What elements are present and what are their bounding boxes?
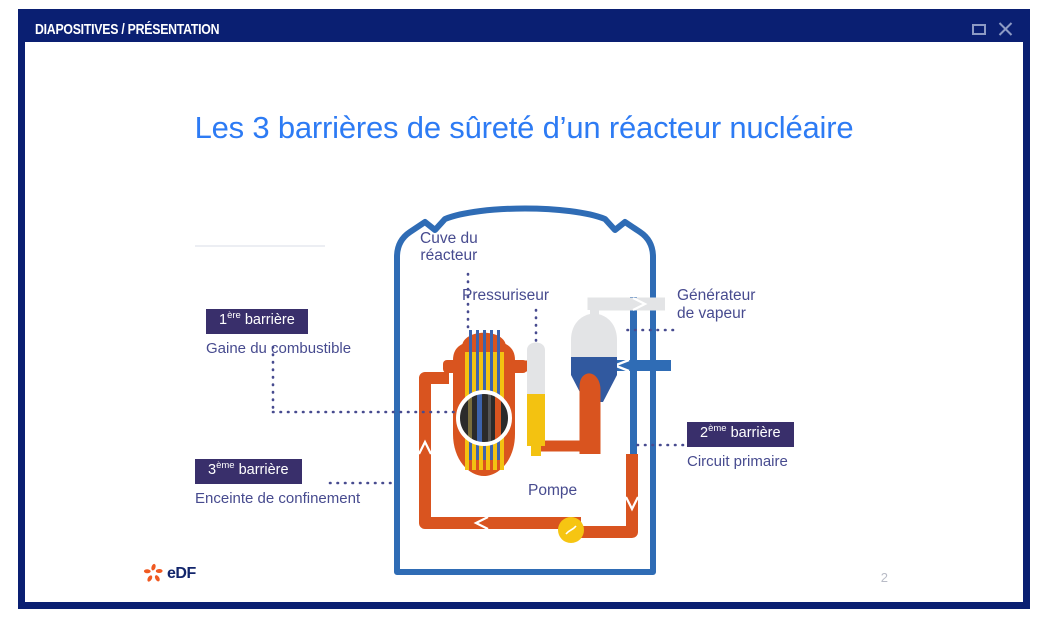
barrier-2-description: Circuit primaire [687, 453, 794, 470]
barrier-2-word: barrière [731, 425, 781, 441]
barrier-1-chip: 1ère barrière [206, 309, 308, 334]
label-reactor-vessel-line2: réacteur [420, 247, 478, 264]
steam-outlet-pipe [594, 304, 665, 310]
screen: DIAPOSITIVES / PRÉSENTATION Les 3 barriè… [0, 0, 1042, 631]
presentation-window: DIAPOSITIVES / PRÉSENTATION Les 3 barriè… [18, 9, 1030, 609]
window-titlebar: DIAPOSITIVES / PRÉSENTATION [25, 16, 1023, 42]
reactor-vessel-right-nozzle [511, 360, 527, 373]
barrier-1-word: barrière [245, 312, 295, 328]
window-title: DIAPOSITIVES / PRÉSENTATION [35, 21, 219, 38]
barrier-3-description: Enceinte de confinement [195, 490, 360, 507]
label-reactor-vessel-line1: Cuve du [420, 230, 478, 247]
barrier-2-chip: 2ème barrière [687, 422, 794, 447]
reactor-diagram-artwork [25, 42, 1023, 602]
restore-icon [972, 24, 986, 35]
close-icon [997, 21, 1013, 37]
slide-page-number: 2 [881, 570, 888, 585]
primary-circuit-utube [585, 379, 595, 454]
barrier-3-ordinal: ème [216, 460, 234, 471]
window-controls [969, 19, 1019, 39]
close-button[interactable] [995, 19, 1015, 39]
edf-logo: eDF [143, 563, 196, 584]
label-pressurizer: Pressuriseur [462, 287, 549, 304]
label-steam-generator: Générateur de vapeur [677, 287, 755, 323]
primary-cold-leg-right [581, 454, 632, 532]
callout-barrier-2: 2ème barrière Circuit primaire [687, 422, 794, 470]
barrier-3-number: 3 [208, 462, 216, 478]
callout-barrier-1: 1ère barrière Gaine du combustible [206, 309, 351, 357]
steam-generator-upper-body [571, 314, 617, 357]
label-reactor-vessel: Cuve du réacteur [420, 230, 478, 265]
label-steam-generator-line2: de vapeur [677, 305, 755, 323]
reactor-vessel-left-nozzle [443, 360, 457, 373]
barrier-1-description: Gaine du combustible [206, 340, 351, 357]
edf-flower-icon [143, 563, 164, 584]
edf-wordmark: eDF [167, 565, 196, 583]
reactor-diagram: Cuve du réacteur Pressuriseur Générateur… [25, 42, 1023, 602]
label-steam-generator-line1: Générateur [677, 287, 755, 305]
barrier-1-ordinal: ère [227, 310, 241, 321]
barrier-2-number: 2 [700, 425, 708, 441]
slide-canvas: Les 3 barrières de sûreté d’un réacteur … [25, 42, 1023, 602]
restore-button[interactable] [969, 19, 989, 39]
barrier-3-chip: 3ème barrière [195, 459, 302, 484]
barrier-1-number: 1 [219, 312, 227, 328]
barrier-2-ordinal: ème [708, 423, 726, 434]
steam-generator-neck [590, 304, 599, 316]
barrier-3-word: barrière [239, 462, 289, 478]
label-pump: Pompe [528, 482, 577, 499]
callout-barrier-3: 3ème barrière Enceinte de confinement [195, 459, 360, 507]
